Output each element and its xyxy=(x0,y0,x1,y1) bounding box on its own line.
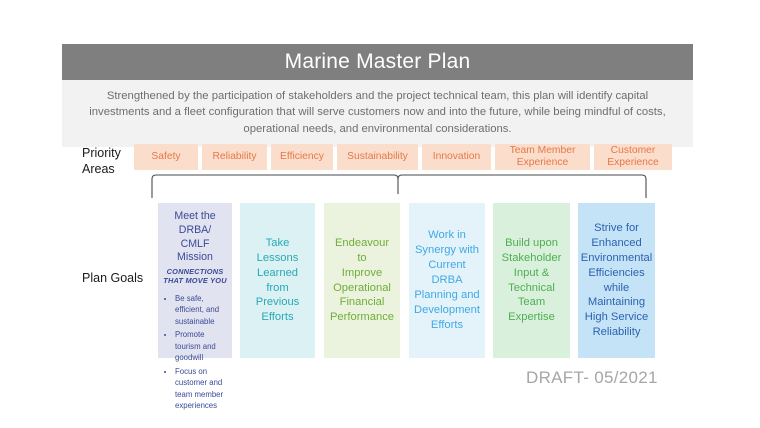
plan-goal-box[interactable]: Take Lessons Learned from Previous Effor… xyxy=(240,203,315,358)
plan-goal-box[interactable]: Strive for Enhanced Environmental Effici… xyxy=(578,203,655,358)
plan-goal-tagline: CONNECTIONS THAT MOVE YOU xyxy=(163,267,227,286)
page-title: Marine Master Plan xyxy=(285,50,471,74)
plan-goal-bullet-list: Be safe, efficient, and sustainablePromo… xyxy=(163,293,227,414)
priority-areas-row-label: Priority Areas xyxy=(82,145,142,178)
priority-area-pill[interactable]: Efficiency xyxy=(271,144,333,170)
plan-goal-bullet: Promote tourism and goodwill xyxy=(175,329,227,364)
title-bar: Marine Master Plan xyxy=(62,44,693,80)
plan-goal-box[interactable]: Work in Synergy with Current DRBA Planni… xyxy=(409,203,485,358)
plan-goal-title: Work in Synergy with Current DRBA Planni… xyxy=(414,228,480,332)
subtitle-text: Strengthened by the participation of sta… xyxy=(84,88,671,137)
subtitle-bar: Strengthened by the participation of sta… xyxy=(62,80,693,147)
priority-area-pill[interactable]: Safety xyxy=(134,144,198,170)
priority-area-pill[interactable]: Sustainability xyxy=(337,144,418,170)
plan-goal-box[interactable]: Meet the DRBA/ CMLF MissionCONNECTIONS T… xyxy=(158,203,232,358)
plan-goals-row: Meet the DRBA/ CMLF MissionCONNECTIONS T… xyxy=(0,203,760,358)
priority-area-pill[interactable]: Innovation xyxy=(422,144,491,170)
plan-goal-bullet: Focus on customer and team member experi… xyxy=(175,366,227,412)
plan-goal-title: Build upon Stakeholder Input & Technical… xyxy=(502,236,562,325)
plan-goal-bullet: Be safe, efficient, and sustainable xyxy=(175,293,227,328)
plan-goal-title: Take Lessons Learned from Previous Effor… xyxy=(245,236,310,325)
plan-goal-title: Endeavour to Improve Operational Financi… xyxy=(329,236,395,325)
plan-goal-title: Meet the DRBA/ CMLF Mission xyxy=(163,210,227,265)
priority-area-pill[interactable]: Customer Experience xyxy=(594,144,672,170)
priority-area-pill[interactable]: Reliability xyxy=(202,144,267,170)
priority-area-pill[interactable]: Team Member Experience xyxy=(495,144,590,170)
plan-goal-box[interactable]: Endeavour to Improve Operational Financi… xyxy=(324,203,400,358)
plan-goal-title: Strive for Enhanced Environmental Effici… xyxy=(581,221,653,340)
draft-stamp: DRAFT- 05/2021 xyxy=(526,368,658,388)
plan-goal-box[interactable]: Build upon Stakeholder Input & Technical… xyxy=(493,203,570,358)
header-block: Marine Master Plan Strengthened by the p… xyxy=(62,44,693,147)
bracket-connector-icon xyxy=(150,172,650,200)
